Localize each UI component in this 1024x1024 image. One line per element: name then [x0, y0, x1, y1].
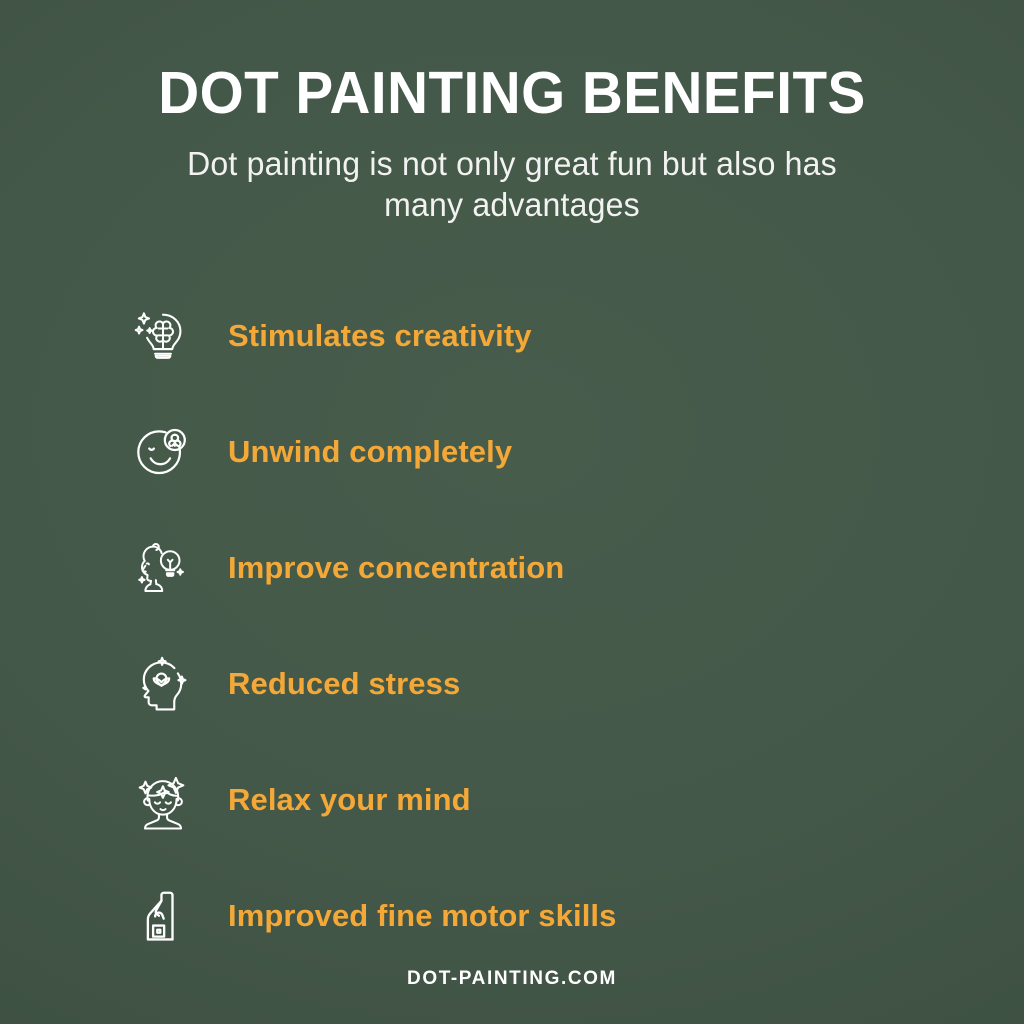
head-lightbulb-icon	[132, 532, 194, 604]
benefits-list: Stimulates creativity Unwind completely	[132, 278, 932, 974]
list-item: Relax your mind	[132, 742, 932, 858]
list-item: Improve concentration	[132, 510, 932, 626]
page-subtitle: Dot painting is not only great fun but a…	[143, 143, 880, 227]
benefit-label: Stimulates creativity	[228, 318, 532, 354]
benefit-label: Improve concentration	[228, 550, 564, 586]
list-item: Improved fine motor skills	[132, 858, 932, 974]
list-item: Stimulates creativity	[132, 278, 932, 394]
brain-lightbulb-icon	[132, 300, 194, 372]
hand-pinch-icon	[132, 880, 194, 952]
benefit-label: Improved fine motor skills	[228, 898, 616, 934]
infographic-poster: DOT PAINTING BENEFITS Dot painting is no…	[0, 0, 1024, 1024]
smiling-face-flower-icon	[132, 416, 194, 488]
page-title: DOT PAINTING BENEFITS	[20, 62, 1003, 125]
calm-face-stars-icon	[132, 764, 194, 836]
list-item: Unwind completely	[132, 394, 932, 510]
poster-header: DOT PAINTING BENEFITS Dot painting is no…	[0, 0, 1024, 226]
list-item: Reduced stress	[132, 626, 932, 742]
poster-footer: DOT-PAINTING.COM	[0, 968, 1024, 990]
head-lotus-icon	[132, 648, 194, 720]
benefit-label: Unwind completely	[228, 434, 512, 470]
benefit-label: Reduced stress	[228, 666, 460, 702]
website-url: DOT-PAINTING.COM	[407, 968, 617, 989]
benefit-label: Relax your mind	[228, 782, 471, 818]
